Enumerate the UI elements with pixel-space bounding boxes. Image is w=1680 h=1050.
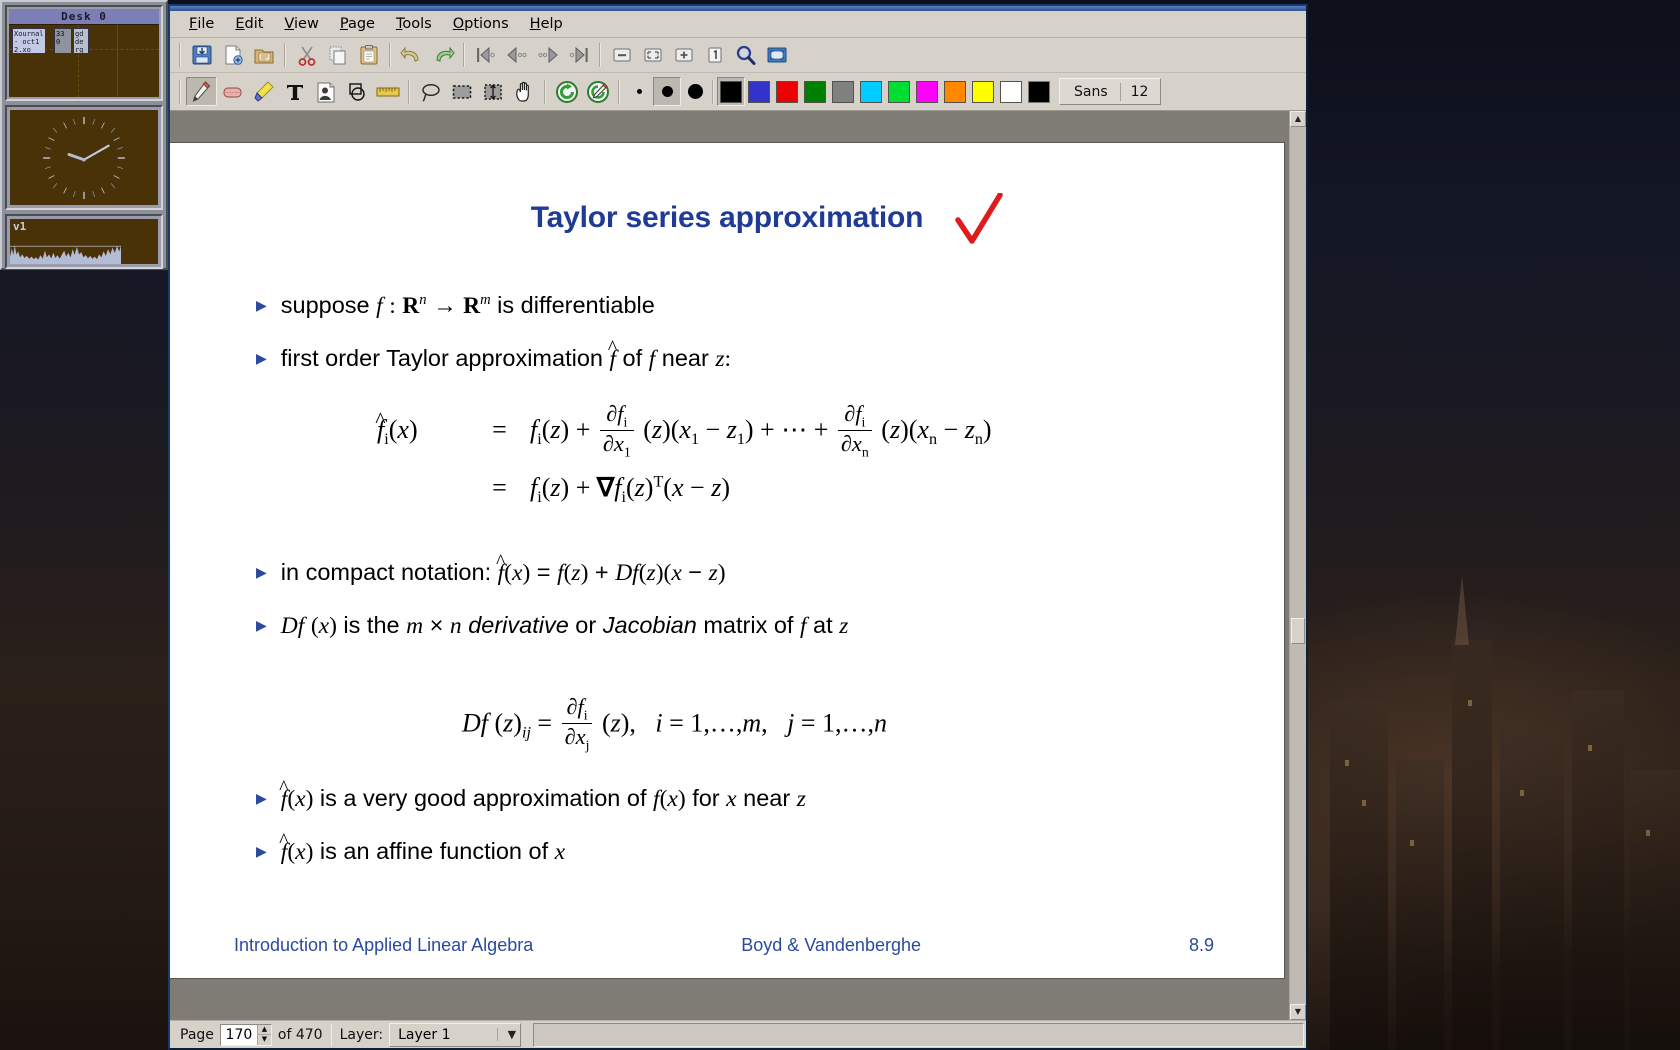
fullscreen-icon (766, 45, 788, 65)
bullet-text: ^f(x) is a very good approximation of f(… (281, 785, 806, 813)
bullet-text: ^f(x) is an affine function of x (281, 838, 565, 866)
color-black-2[interactable] (1025, 77, 1053, 106)
pager-window-xournal[interactable]: Xournal - oct1 2.xo (12, 28, 46, 54)
next-page-icon (536, 45, 560, 65)
color-swatch-cyan (860, 81, 882, 103)
scroll-up-arrow-icon: ▲ (1295, 115, 1301, 123)
skyline-light (1646, 830, 1650, 836)
bullet-item: ▶ first order Taylor approximation ^f of… (256, 345, 731, 373)
color-orange[interactable] (941, 77, 969, 106)
color-yellow[interactable] (969, 77, 997, 106)
color-swatch-red (776, 81, 798, 103)
medium-stroke[interactable] (653, 77, 681, 106)
color-swatch-white (1000, 81, 1022, 103)
page-spinner-arrows[interactable]: ▲ ▼ (257, 1025, 271, 1045)
desktop-widget-panel: Desk 0 Xournal - oct1 2.xo 33 0 gd de rg… (0, 0, 168, 270)
color-blue[interactable] (745, 77, 773, 106)
page-title: Taylor series approximation (170, 201, 1284, 235)
bullet-item: ▶ ^f(x) is a very good approximation of … (256, 785, 806, 813)
bullet-triangle-icon: ▶ (256, 617, 267, 634)
zoom-100-button[interactable] (699, 41, 730, 70)
last-page-button[interactable] (563, 41, 594, 70)
medium-stroke-dot-icon (662, 86, 673, 97)
vertical-space-tool[interactable] (477, 77, 508, 106)
menu-edit[interactable]: Edit (226, 13, 272, 35)
color-cyan[interactable] (857, 77, 885, 106)
zoom-out-button[interactable] (606, 41, 637, 70)
slide-content: Taylor series approximation ▶ suppose f … (170, 143, 1284, 978)
undo-button[interactable] (396, 41, 427, 70)
menu-file[interactable]: FFileile (180, 13, 223, 35)
new-button[interactable] (217, 41, 248, 70)
pager-window-label: Xournal - oct1 2.xo (14, 30, 44, 54)
new-document-icon (222, 44, 244, 66)
page-status-group: Page 170 ▲ ▼ of 470 (172, 1022, 331, 1048)
status-bar: Page 170 ▲ ▼ of 470 Layer: Layer 1 ▼ (170, 1020, 1306, 1048)
bullet-triangle-icon: ▶ (256, 843, 267, 860)
bullet-item: ▶ Df (x) is the m × n derivative or Jaco… (256, 612, 848, 640)
bullet-triangle-icon: ▶ (256, 790, 267, 807)
save-icon (191, 44, 213, 66)
footer-right: 8.9 (1189, 935, 1214, 956)
skyline-block (1452, 640, 1492, 1050)
load-graph-icon (10, 238, 121, 264)
document-page[interactable]: Taylor series approximation ▶ suppose f … (170, 143, 1284, 978)
clock-minute-hand (84, 145, 109, 159)
shape-recognizer-icon (346, 81, 368, 103)
bullet-item: ▶ in compact notation: ^f(x) = f(z) + Df… (256, 559, 726, 587)
bullet-item: ▶ suppose f : Rn → Rm is differentiable (256, 292, 655, 320)
first-page-button[interactable] (470, 41, 501, 70)
bullet-triangle-icon: ▶ (256, 350, 267, 367)
last-page-icon (567, 45, 591, 65)
eraser-icon (221, 81, 244, 103)
image-tool[interactable] (310, 77, 341, 106)
paste-button[interactable] (353, 41, 384, 70)
highlighter-icon (252, 80, 275, 103)
default-pen-button[interactable] (551, 77, 582, 106)
bullet-text: Df (x) is the m × n derivative or Jacobi… (281, 612, 849, 640)
font-family-value: Sans (1062, 84, 1120, 100)
lasso-icon (419, 81, 443, 103)
bullet-triangle-icon: ▶ (256, 297, 267, 314)
canvas-area: Taylor series approximation ▶ suppose f … (170, 111, 1306, 1020)
ruler-icon (376, 81, 400, 103)
skyline-block (1500, 730, 1564, 1050)
find-button[interactable] (730, 41, 761, 70)
vertical-scrollbar[interactable]: ▲ ▼ (1289, 111, 1306, 1020)
skyline-light (1345, 760, 1349, 766)
copy-button[interactable] (322, 41, 353, 70)
menu-page[interactable]: Page (331, 13, 384, 35)
partial-derivative-fraction: ∂fi ∂x1 (600, 401, 634, 460)
clipboard-icon (358, 44, 380, 66)
menu-help[interactable]: Help (521, 13, 572, 35)
equation-display: ^fi(x) = fi(z) + ∂fi ∂x1 (z)(x1 − z1) (377, 403, 992, 462)
font-size-value: 12 (1121, 84, 1159, 100)
load-monitor-face: v1 (10, 219, 158, 264)
ruler-tool[interactable] (372, 77, 403, 106)
skyline-light (1520, 790, 1524, 796)
zoom-in-icon (673, 45, 695, 65)
menu-view[interactable]: View (275, 13, 327, 35)
zoom-fit-button[interactable] (637, 41, 668, 70)
desktop-background: Desk 0 Xournal - oct1 2.xo 33 0 gd de rg… (0, 0, 1680, 1050)
skyline-light (1468, 700, 1472, 706)
color-darkgreen[interactable] (801, 77, 829, 106)
clock-hour-hand (69, 154, 84, 159)
skyline-block (1330, 700, 1388, 1050)
xournal-window: FFileile Edit View Page Tools Options He… (168, 4, 1308, 1050)
zoom-in-button[interactable] (668, 41, 699, 70)
partial-derivative-fraction: ∂fi ∂xn (838, 401, 872, 460)
partial-derivative-fraction: ∂fi ∂xj (562, 694, 593, 753)
scissors-icon (296, 44, 318, 66)
zoom-fit-icon (642, 45, 664, 65)
color-gray[interactable] (829, 77, 857, 106)
thick-stroke[interactable] (681, 77, 709, 106)
scroll-down-button[interactable]: ▼ (1290, 1004, 1306, 1020)
previous-page-icon (505, 45, 529, 65)
page-number-stepper[interactable]: 170 ▲ ▼ (220, 1024, 272, 1046)
vertical-space-icon (481, 81, 505, 103)
thin-stroke-dot-icon (637, 89, 642, 94)
green-refresh-icon (555, 80, 579, 104)
open-button[interactable] (248, 41, 279, 70)
clock-dial-icon (40, 114, 128, 202)
prev-page-button[interactable] (501, 41, 532, 70)
color-swatch-gray (832, 81, 854, 103)
pager-window-terminal[interactable]: 33 0 (54, 28, 72, 54)
magnifier-icon (734, 44, 758, 66)
layer-select-value: Layer 1 (398, 1027, 497, 1043)
menu-bar: FFileile Edit View Page Tools Options He… (170, 11, 1306, 38)
scrollbar-track[interactable] (1290, 127, 1306, 1004)
text-tool[interactable] (279, 77, 310, 106)
chevron-down-icon: ▼ (497, 1028, 516, 1041)
first-page-icon (474, 45, 498, 65)
scroll-down-arrow-icon: ▼ (1295, 1008, 1301, 1016)
pager-grid[interactable]: Xournal - oct1 2.xo 33 0 gd de rg VM (9, 24, 159, 97)
pencil-icon (190, 80, 213, 104)
color-swatch-green (888, 81, 910, 103)
text-T-icon (284, 81, 306, 103)
scrollbar-thumb[interactable] (1291, 618, 1305, 644)
load-monitor-label: v1 (13, 220, 26, 233)
desktop-load-monitor: v1 (5, 214, 163, 269)
next-page-button[interactable] (532, 41, 563, 70)
skyline-block (1572, 690, 1624, 1050)
eraser-tool[interactable] (217, 77, 248, 106)
scroll-up-button[interactable]: ▲ (1290, 111, 1306, 127)
color-swatch-black-2 (1028, 81, 1050, 103)
color-white[interactable] (997, 77, 1025, 106)
color-red[interactable] (773, 77, 801, 106)
file-toolbar (170, 38, 1306, 73)
select-rect-tool[interactable] (446, 77, 477, 106)
fullscreen-button[interactable] (761, 41, 792, 70)
lasso-tool[interactable] (415, 77, 446, 106)
desktop-clock (5, 105, 163, 210)
cut-button[interactable] (291, 41, 322, 70)
page-total-label: of 470 (278, 1027, 323, 1043)
skyline-light (1410, 840, 1414, 846)
skyline-spire (1455, 575, 1469, 645)
open-folder-icon (253, 44, 275, 66)
bullet-triangle-icon: ▶ (256, 564, 267, 581)
font-chooser-button[interactable]: Sans 12 (1059, 78, 1161, 105)
zoom-out-icon (611, 45, 633, 65)
color-swatch-yellow (972, 81, 994, 103)
skyline-light (1588, 745, 1592, 751)
color-magenta[interactable] (913, 77, 941, 106)
color-swatch-orange (944, 81, 966, 103)
select-rectangle-icon (450, 81, 474, 103)
skyline-block (1396, 760, 1444, 1050)
color-swatch-darkgreen (804, 81, 826, 103)
thin-stroke[interactable] (625, 77, 653, 106)
skyline-block (1630, 770, 1680, 1050)
layer-label: Layer: (340, 1027, 384, 1043)
skyline-light (1362, 800, 1366, 806)
menu-options[interactable]: Options (444, 13, 518, 35)
layer-select[interactable]: Layer 1 ▼ (389, 1023, 521, 1047)
image-icon (315, 81, 337, 103)
page-label: Page (180, 1027, 214, 1043)
shape-tool[interactable] (341, 77, 372, 106)
thick-stroke-dot-icon (688, 84, 703, 99)
bullet-text: in compact notation: ^f(x) = f(z) + Df(z… (281, 559, 726, 587)
pager-window-vm[interactable]: gd de rg VM (73, 28, 89, 54)
bullet-text: suppose f : Rn → Rm is differentiable (281, 292, 655, 320)
pager-window-label: gd de rg VM (75, 30, 83, 54)
highlighter-tool[interactable] (248, 77, 279, 106)
undo-arrow-icon (400, 44, 424, 66)
color-swatch-magenta (916, 81, 938, 103)
color-black[interactable] (717, 77, 745, 106)
slide-footer: Introduction to Applied Linear Algebra B… (170, 935, 1284, 956)
layer-status-group: Layer: Layer 1 ▼ (332, 1022, 530, 1048)
pager-window-label: 33 0 (56, 30, 64, 46)
hand-icon (513, 80, 535, 103)
equation-display: = fi(z) + ∇fi(z)T(x − z) (377, 473, 730, 507)
green-pencil-refresh-icon (586, 80, 610, 104)
color-green[interactable] (885, 77, 913, 106)
footer-center: Boyd & Vandenberghe (473, 935, 1189, 956)
default-tool-button[interactable] (582, 77, 613, 106)
bullet-text: first order Taylor approximation ^f of f… (281, 345, 731, 373)
page-number-input[interactable]: 170 (221, 1025, 257, 1045)
menu-tools[interactable]: Tools (387, 13, 441, 35)
color-swatch-black (720, 81, 742, 103)
copy-icon (327, 44, 349, 66)
canvas-scroll-region[interactable]: Taylor series approximation ▶ suppose f … (170, 111, 1289, 1020)
page-spinner-down[interactable]: ▼ (258, 1035, 271, 1045)
page-spinner-up[interactable]: ▲ (258, 1025, 271, 1036)
pager-desk-label: Desk 0 (9, 9, 159, 24)
save-button[interactable] (186, 41, 217, 70)
redo-button[interactable] (427, 41, 458, 70)
color-swatch-blue (748, 81, 770, 103)
status-message-area (533, 1023, 1304, 1047)
bullet-item: ▶ ^f(x) is an affine function of x (256, 838, 565, 866)
tools-toolbar: Sans 12 (170, 73, 1306, 111)
hand-tool[interactable] (508, 77, 539, 106)
zoom-one-to-one-icon (704, 45, 726, 65)
clock-face (10, 110, 158, 205)
pen-tool[interactable] (186, 77, 217, 106)
redo-arrow-icon (431, 44, 455, 66)
equation-display: Df (z)ij = ∂fi ∂xj (z), i = 1,…,m, j = 1… (462, 696, 887, 755)
fvwm-pager[interactable]: Desk 0 Xournal - oct1 2.xo 33 0 gd de rg… (5, 5, 163, 101)
